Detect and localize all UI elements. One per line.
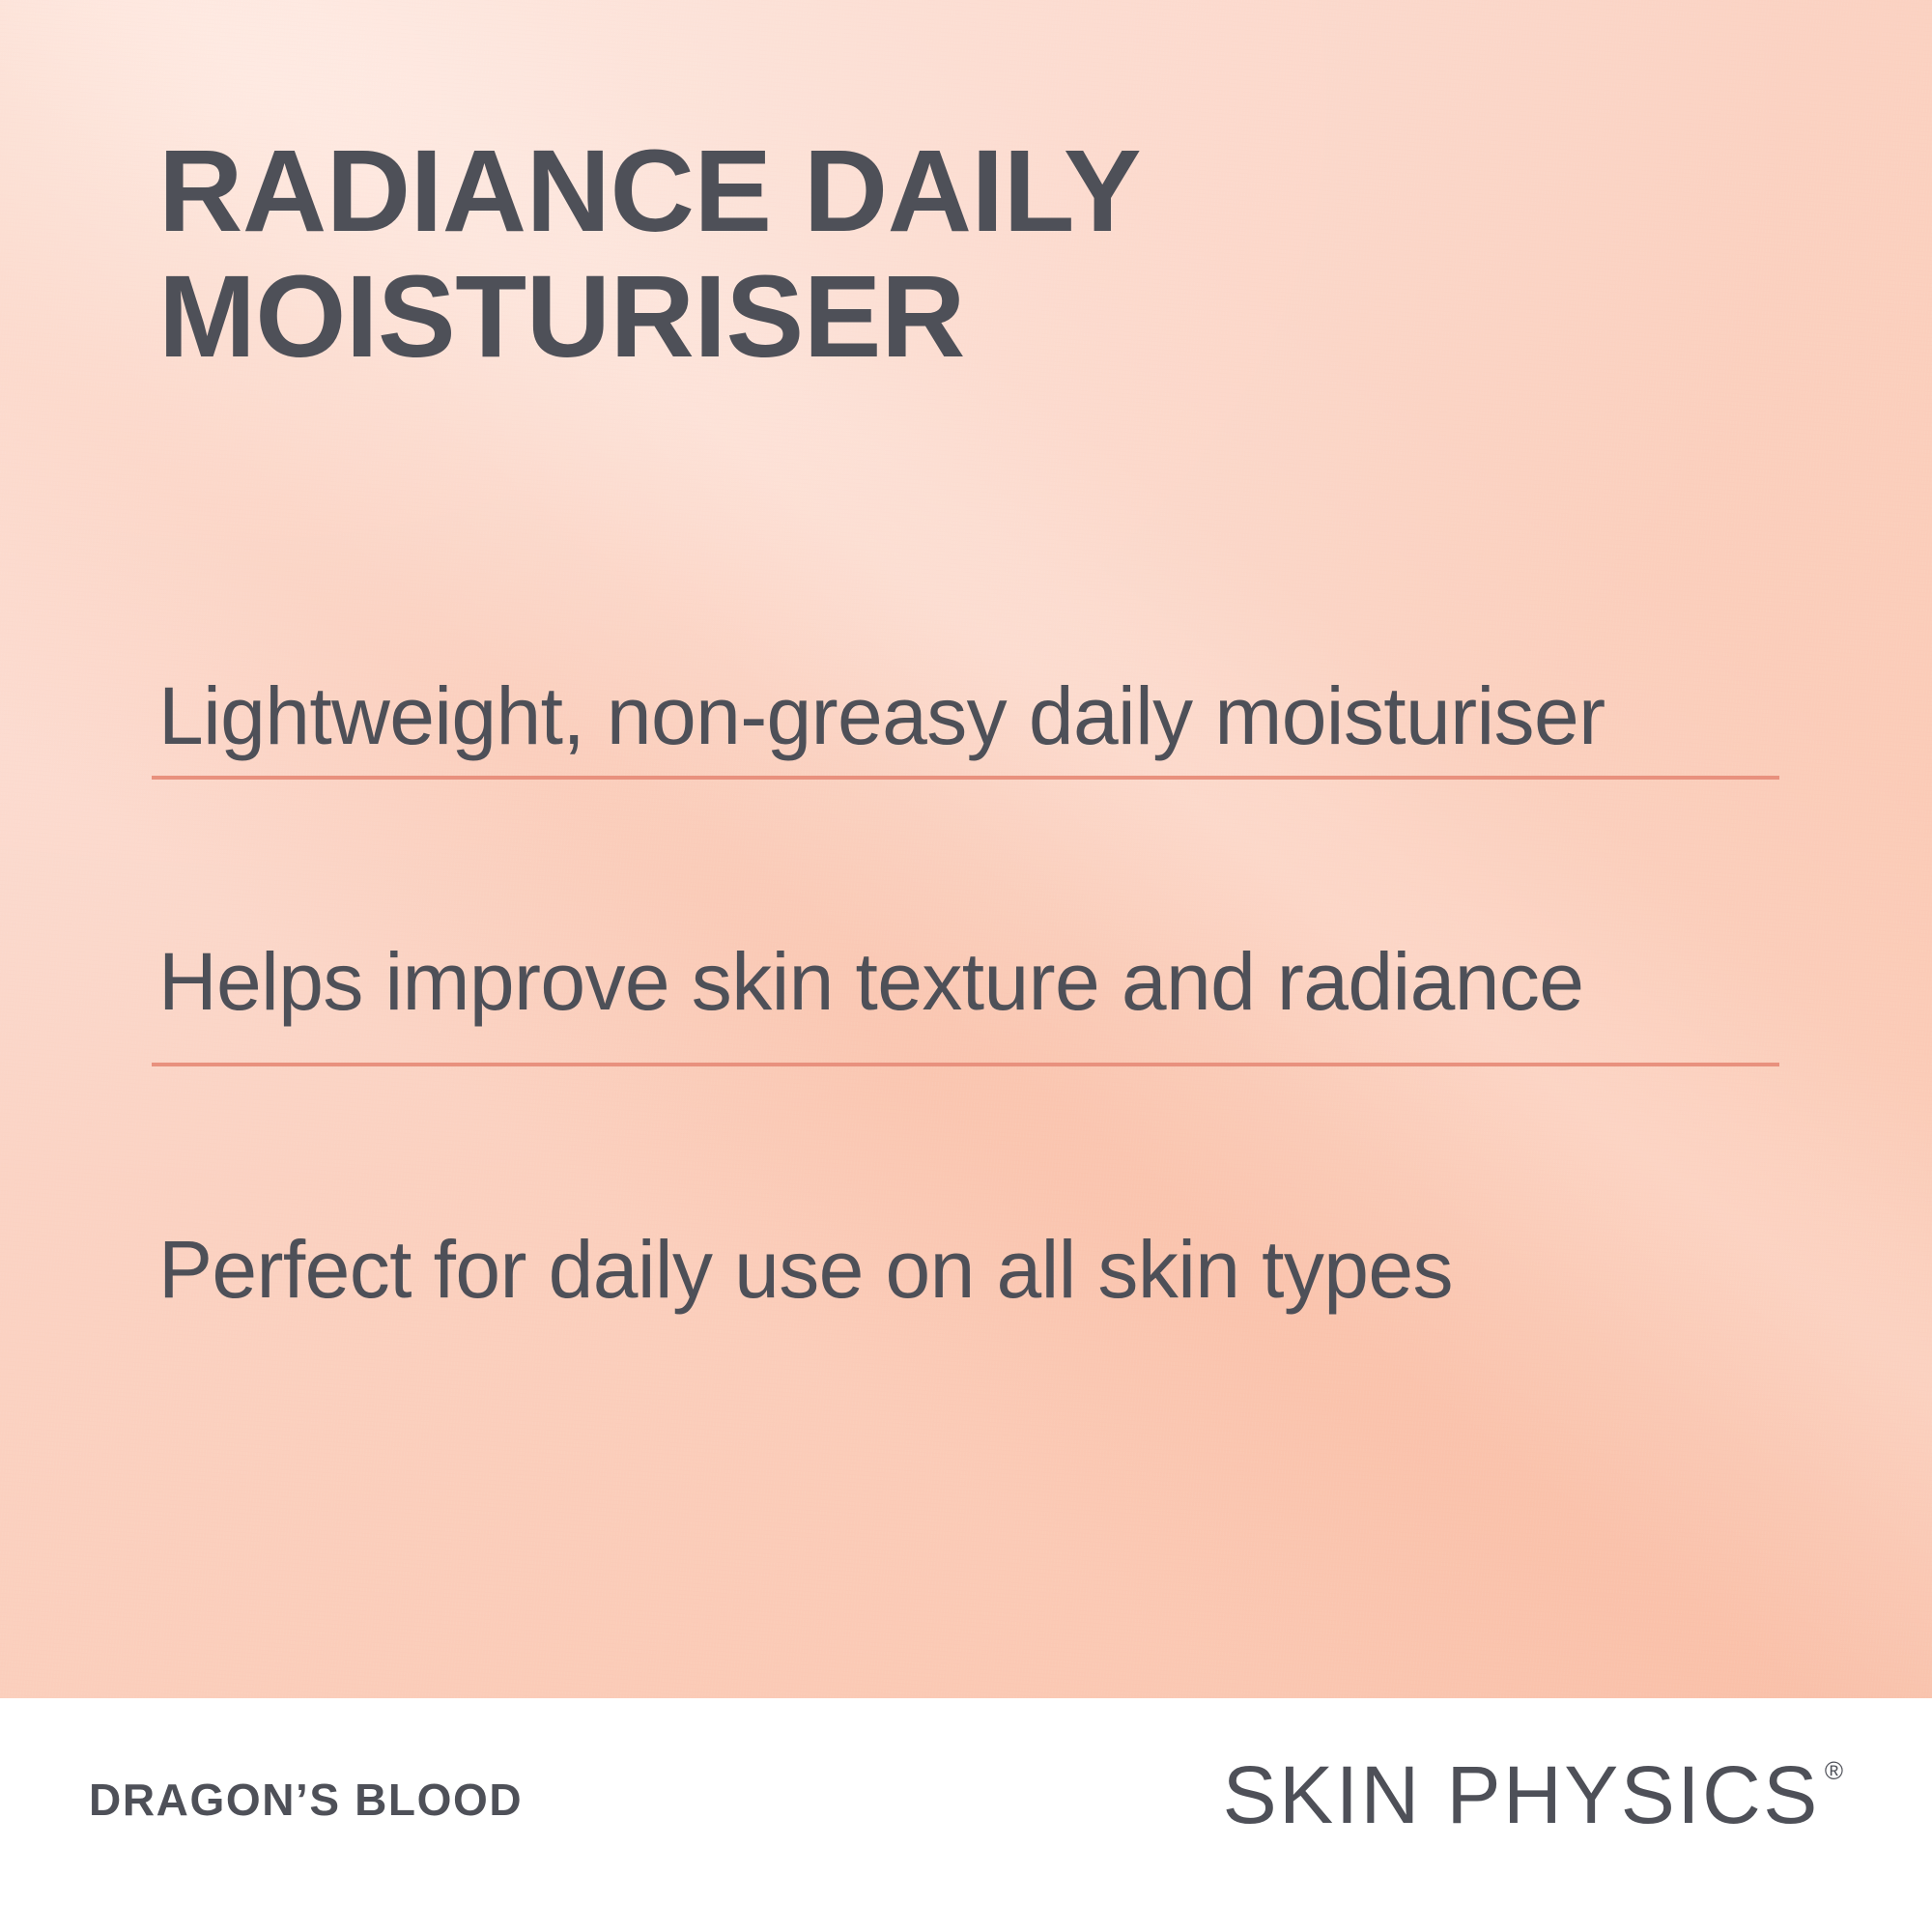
benefit-item-1: Lightweight, non-greasy daily moisturise… [158,673,1820,758]
key-ingredient-label: DRAGON’S BLOOD [89,1777,523,1822]
product-title: RADIANCE DAILY MOISTURISER [158,128,1607,379]
registered-trademark-icon: ® [1825,1758,1843,1783]
benefit-divider-1 [152,776,1779,780]
benefit-divider-2 [152,1063,1779,1066]
footer-bar: DRAGON’S BLOOD SKIN PHYSICS ® [0,1698,1932,1932]
content-area: RADIANCE DAILY MOISTURISER Lightweight, … [0,0,1932,1698]
brand-name: SKIN PHYSICS [1223,1754,1820,1835]
benefit-item-2: Helps improve skin texture and radiance [158,939,1820,1024]
product-feature-card: RADIANCE DAILY MOISTURISER Lightweight, … [0,0,1932,1932]
benefit-item-3: Perfect for daily use on all skin types [158,1227,1820,1312]
brand-logo: SKIN PHYSICS ® [1223,1754,1843,1835]
